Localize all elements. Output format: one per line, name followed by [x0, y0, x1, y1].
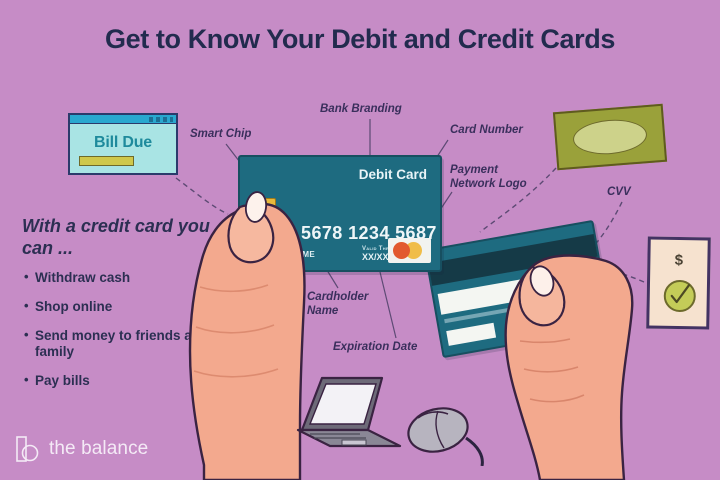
annotation-expiration-date: Expiration Date: [333, 341, 417, 355]
receipt-card-icon: $: [646, 236, 711, 329]
mastercard-circle-left: [393, 242, 410, 259]
mastercard-logo-icon: [388, 238, 431, 263]
window-titlebar: [70, 115, 176, 124]
bill-due-window: Bill Due: [68, 113, 178, 175]
page-title: Get to Know Your Debit and Credit Cards: [0, 24, 720, 55]
laptop-icon: [296, 374, 406, 457]
computer-mouse-icon: [404, 404, 490, 471]
balance-logomark-icon: [16, 436, 41, 462]
annotation-payment-network-logo: Payment Network Logo: [450, 164, 527, 192]
annotation-cardholder-name: Cardholder Name: [307, 291, 368, 319]
bill-due-label: Bill Due: [70, 134, 176, 152]
bill-due-button[interactable]: [79, 156, 134, 166]
annotation-cvv: CVV: [607, 186, 631, 200]
annotation-card-number: Card Number: [450, 124, 523, 138]
leader-expiration: [380, 272, 396, 338]
annotation-bank-branding: Bank Branding: [320, 103, 402, 117]
infographic-canvas: Get to Know Your Debit and Credit Cards …: [0, 0, 720, 480]
dollar-sign-icon: $: [650, 252, 707, 270]
right-hand-illustration: [474, 245, 644, 480]
bank-branding-text: Debit Card: [359, 167, 427, 182]
dollar-bill-oval: [572, 117, 648, 157]
checkmark-icon: [663, 280, 696, 313]
annotation-smart-chip: Smart Chip: [190, 128, 251, 142]
brand-logo-text: the balance: [49, 438, 148, 460]
window-controls-icon: [149, 117, 173, 122]
brand-logo[interactable]: the balance: [16, 436, 148, 462]
left-hand-illustration: [168, 175, 313, 480]
dollar-bill-icon: [553, 104, 667, 170]
